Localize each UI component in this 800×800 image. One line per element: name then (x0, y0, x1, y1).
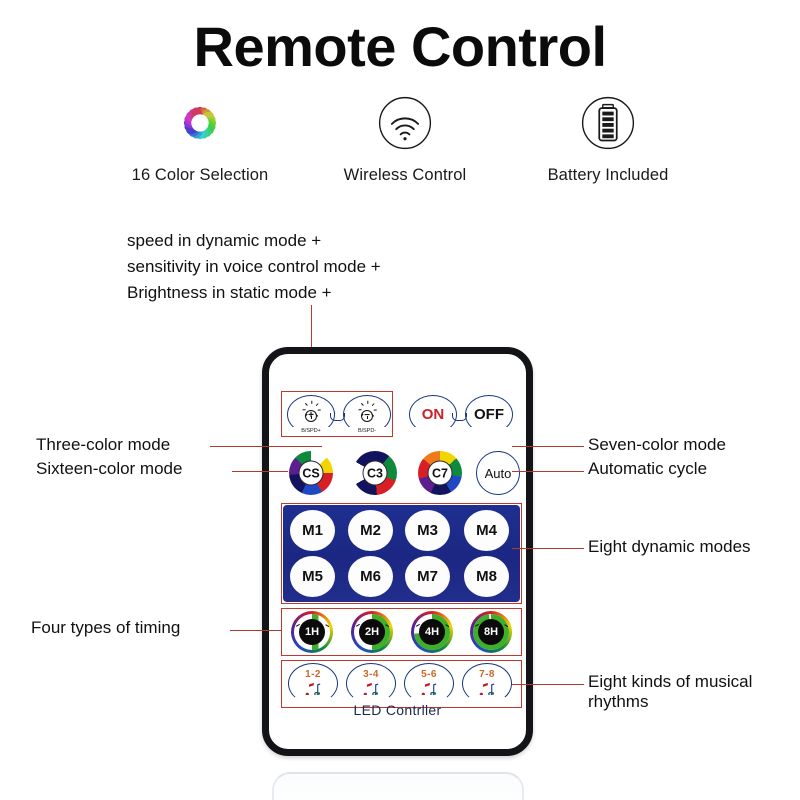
music-7-8-label: 7-8 (479, 669, 495, 680)
wireless-signal-icon (305, 92, 505, 154)
callout-four-types-of-timing: Four types of timing (31, 618, 251, 638)
leader-line-three-color (210, 446, 322, 447)
sun-minus-icon: − (358, 406, 377, 425)
feature-wireless-control: Wireless Control (305, 92, 505, 185)
color-mode-cs-button[interactable]: CS (289, 451, 333, 495)
callout-eight-dynamic-modes: Eight dynamic modes (588, 537, 800, 557)
callout-automatic-cycle: Automatic cycle (588, 459, 798, 479)
top-annotation: speed in dynamic mode + sensitivity in v… (127, 228, 557, 305)
remote-control-body: + B/SPD+ − B/SPD- (262, 347, 533, 756)
c7-label: C7 (428, 461, 453, 486)
top-annotation-line: Brightness in static mode + (127, 280, 557, 306)
callout-seven-color-mode: Seven-color mode (588, 435, 798, 455)
music-button-3-4[interactable]: 3-4 (344, 662, 398, 704)
mode-button-m5[interactable]: M5 (290, 556, 335, 597)
mode-button-m4[interactable]: M4 (464, 510, 509, 551)
auto-label: Auto (476, 451, 520, 495)
music-button-7-8[interactable]: 7-8 (460, 662, 514, 704)
timer-button-2h[interactable]: 2H (351, 611, 393, 653)
timer-button-4h[interactable]: 4H (411, 611, 453, 653)
feature-color-selection: 16 Color Selection (100, 92, 300, 185)
battery-icon (508, 92, 708, 154)
power-on-label: ON (422, 406, 445, 423)
timer-row: 1H 2H (269, 611, 526, 653)
music-note-icon (303, 682, 323, 695)
music-note-icon (477, 682, 497, 695)
callout-eight-musical-rhythms: Eight kinds of musical rhythms (588, 672, 794, 712)
callout-three-color-mode: Three-color mode (36, 435, 236, 455)
top-annotation-line: speed in dynamic mode + (127, 228, 557, 254)
dynamic-mode-panel: M1 M2 M3 M4 M5 M6 M7 M8 (283, 505, 520, 602)
product-infographic: Remote Control 16 Color Selection (0, 0, 800, 800)
timer-2h-label: 2H (359, 619, 385, 645)
color-mode-row: CS C3 C7 Auto (269, 451, 526, 497)
brightness-down-sublabel: B/SPD- (358, 428, 376, 434)
feature-label: Wireless Control (305, 166, 505, 185)
mode-button-m8[interactable]: M8 (464, 556, 509, 597)
timer-1h-label: 1H (299, 619, 325, 645)
mode-button-m2[interactable]: M2 (348, 510, 393, 551)
color-wheel-icon (100, 92, 300, 154)
power-off-label: OFF (474, 406, 504, 423)
mode-button-m6[interactable]: M6 (348, 556, 393, 597)
music-button-5-6[interactable]: 5-6 (402, 662, 456, 704)
leader-line-seven-color (512, 446, 584, 447)
feature-label: 16 Color Selection (100, 166, 300, 185)
remote-reflection (272, 772, 524, 800)
music-note-icon (361, 682, 381, 695)
mode-button-m7[interactable]: M7 (405, 556, 450, 597)
sun-plus-icon: + (302, 406, 321, 425)
leader-line-automatic-cycle (512, 471, 584, 472)
feature-row: 16 Color Selection Wireless Control (90, 92, 730, 192)
color-wheel-svg (169, 92, 231, 154)
brightness-up-sublabel: B/SPD+ (301, 428, 320, 434)
mode-button-m1[interactable]: M1 (290, 510, 335, 551)
music-note-icon (419, 682, 439, 695)
callout-sixteen-color-mode: Sixteen-color mode (36, 459, 256, 479)
page-title: Remote Control (0, 14, 800, 79)
mode-button-m3[interactable]: M3 (405, 510, 450, 551)
top-annotation-line: sensitivity in voice control mode + (127, 254, 557, 280)
timer-4h-label: 4H (419, 619, 445, 645)
color-mode-c7-button[interactable]: C7 (418, 451, 462, 495)
auto-cycle-button[interactable]: Auto (476, 451, 520, 495)
power-row: + B/SPD+ − B/SPD- (269, 394, 526, 438)
feature-battery-included: Battery Included (508, 92, 708, 185)
leader-line-sixteen-color (232, 471, 288, 472)
leader-line-timing (230, 630, 282, 631)
timer-8h-label: 8H (478, 619, 504, 645)
music-5-6-label: 5-6 (421, 669, 437, 680)
brightness-down-button[interactable]: − B/SPD- (341, 394, 393, 435)
brand-label: LED Contrller (269, 702, 526, 718)
color-mode-c3-button[interactable]: C3 (353, 451, 397, 495)
leader-line-musical-rhythms (512, 684, 584, 685)
music-row: 1-2 3-4 5-6 (269, 662, 526, 706)
leader-line-dynamic-modes (512, 548, 584, 549)
c3-label: C3 (363, 461, 388, 486)
music-button-1-2[interactable]: 1-2 (286, 662, 340, 704)
cs-label: CS (299, 461, 324, 486)
timer-button-8h[interactable]: 8H (470, 611, 512, 653)
timer-button-1h[interactable]: 1H (291, 611, 333, 653)
feature-label: Battery Included (508, 166, 708, 185)
power-off-button[interactable]: OFF (463, 394, 515, 435)
music-1-2-label: 1-2 (305, 669, 321, 680)
music-3-4-label: 3-4 (363, 669, 379, 680)
